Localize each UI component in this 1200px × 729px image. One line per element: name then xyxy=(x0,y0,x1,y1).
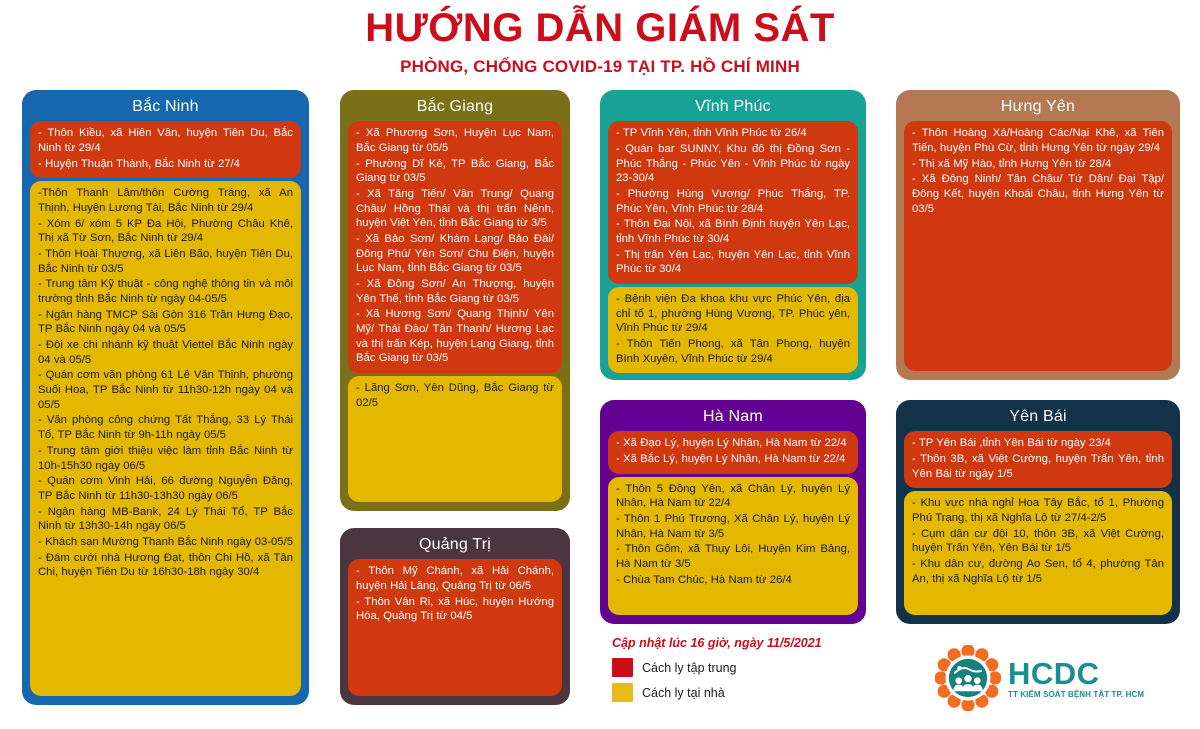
location-item: - Xã Đông Sơn/ An Thượng, huyện Yên Thế,… xyxy=(356,277,554,306)
legend-item-home: Cách ly tại nhà xyxy=(612,683,932,702)
card-hung-yen: Hưng Yên - Thôn Hoàng Xá/Hoàng Các/Nại K… xyxy=(896,90,1180,380)
legend-swatch-yellow-icon xyxy=(612,683,633,702)
location-item: - Xã Bảo Sơn/ Khám Lạng/ Bảo Đài/ Đông P… xyxy=(356,232,554,276)
location-list-yellow-bac-giang: - Lãng Sơn, Yên Dũng, Bắc Giang từ 02/5 xyxy=(356,381,554,410)
card-yen-bai: Yên Bái - TP Yên Bái ,tỉnh Yên Bái từ ng… xyxy=(896,400,1180,624)
location-item: - Thôn 3B, xã Việt Cường, huyện Trấn Yên… xyxy=(912,452,1164,481)
location-list-red-quang-tri: - Thôn Mỹ Chánh, xã Hải Chánh, huyện Hải… xyxy=(356,564,554,624)
location-item: - Thị trấn Yên Lạc, huyện Yên Lạc, tỉnh … xyxy=(616,248,850,277)
header: HƯỚNG DẪN GIÁM SÁT PHÒNG, CHỐNG COVID-19… xyxy=(0,6,1200,77)
legend-swatch-red-icon xyxy=(612,658,633,677)
card-title-quang-tri: Quảng Trị xyxy=(348,534,562,559)
location-item: - Đám cưới nhà Hương Đạt, thôn Chi Hồ, x… xyxy=(38,551,293,580)
card-title-yen-bai: Yên Bái xyxy=(904,406,1172,431)
hcdc-emblem-icon xyxy=(935,645,1001,711)
card-title-vinh-phuc: Vĩnh Phúc xyxy=(608,96,858,121)
location-item: - TP Yên Bái ,tỉnh Yên Bái từ ngày 23/4 xyxy=(912,436,1164,451)
block-central-quarantine-quang-tri: - Thôn Mỹ Chánh, xã Hải Chánh, huyện Hải… xyxy=(348,559,562,696)
location-item: - Thôn Vân Ri, xã Húc, huyện Hướng Hóa, … xyxy=(356,595,554,624)
location-item: - Xã Đông Ninh/ Tân Châu/ Tứ Dân/ Đại Tậ… xyxy=(912,172,1164,216)
location-item: - Đội xe chi nhánh kỹ thuật Viettel Bắc … xyxy=(38,338,293,367)
updated-timestamp: Cập nhật lúc 16 giờ, ngày 11/5/2021 xyxy=(612,636,932,650)
legend-item-central: Cách ly tập trung xyxy=(612,658,932,677)
block-central-quarantine-ha-nam: - Xã Đạo Lý, huyện Lý Nhân, Hà Nam từ 22… xyxy=(608,431,858,473)
card-title-bac-ninh: Bắc Ninh xyxy=(30,96,301,121)
location-item: - Thôn Đại Nội, xã Bình Định huyện Yên L… xyxy=(616,217,850,246)
hcdc-name: HCDC xyxy=(1008,658,1144,689)
location-item: - Quán bar SUNNY, Khu đô thị Đồng Sơn - … xyxy=(616,142,850,186)
location-item: - Văn phòng công chứng Tất Thắng, 33 Lý … xyxy=(38,413,293,442)
location-item: - Thôn 1 Phú Trương, Xã Chân Lý, huyện L… xyxy=(616,512,850,541)
location-item: - TP Vĩnh Yên, tỉnh Vĩnh Phúc từ 26/4 xyxy=(616,126,850,141)
legend-label-home: Cách ly tại nhà xyxy=(642,686,725,700)
location-list-red-ha-nam: - Xã Đạo Lý, huyện Lý Nhân, Hà Nam từ 22… xyxy=(616,436,850,466)
location-item: - Quán cơm Vinh Hải, 66 đường Nguyễn Đăn… xyxy=(38,474,293,503)
block-home-quarantine-bac-giang: - Lãng Sơn, Yên Dũng, Bắc Giang từ 02/5 xyxy=(348,376,562,502)
location-item: - Trung tâm Kỹ thuật - công nghệ thông t… xyxy=(38,277,293,306)
block-home-quarantine-yen-bai: - Khu vực nhà nghỉ Hoa Tây Bắc, tổ 1, Ph… xyxy=(904,491,1172,615)
card-bac-giang: Bắc Giang - Xã Phương Sơn, Huyện Lục Nam… xyxy=(340,90,570,511)
location-item: - Thôn 5 Đồng Yên, xã Chân Lý, huyện Lý … xyxy=(616,482,850,511)
card-title-hung-yen: Hưng Yên xyxy=(904,96,1172,121)
location-list-red-yen-bai: - TP Yên Bái ,tỉnh Yên Bái từ ngày 23/4-… xyxy=(912,436,1164,481)
card-bac-ninh: Bắc Ninh - Thôn Kiều, xã Hiên Vân, huyện… xyxy=(22,90,309,705)
location-item: - Thôn Hoài Thượng, xã Liên Bão, huyện T… xyxy=(38,247,293,276)
card-vinh-phuc: Vĩnh Phúc - TP Vĩnh Yên, tỉnh Vĩnh Phúc … xyxy=(600,90,866,380)
infographic-page: HƯỚNG DẪN GIÁM SÁT PHÒNG, CHỐNG COVID-19… xyxy=(0,0,1200,729)
location-item: - Huyện Thuận Thành, Bắc Ninh từ 27/4 xyxy=(38,157,293,172)
page-title: HƯỚNG DẪN GIÁM SÁT xyxy=(0,6,1200,50)
block-central-quarantine-hung-yen: - Thôn Hoàng Xá/Hoàng Các/Nại Khê, xã Ti… xyxy=(904,121,1172,371)
location-item: - Xã Phương Sơn, Huyện Lục Nam, Bắc Gian… xyxy=(356,126,554,155)
page-subtitle: PHÒNG, CHỐNG COVID-19 TẠI TP. HỒ CHÍ MIN… xyxy=(0,58,1200,77)
location-item: - Cụm dân cư đội 10, thôn 3B, xã Việt Cư… xyxy=(912,527,1164,556)
location-item: - Chùa Tam Chúc, Hà Nam từ 26/4 xyxy=(616,573,850,588)
location-item: - Xã Hương Sơn/ Quang Thịnh/ Yên Mỹ/ Thá… xyxy=(356,307,554,366)
hcdc-tagline: TT KIỂM SOÁT BỆNH TẬT TP. HCM xyxy=(1008,691,1144,699)
location-item: - Bệnh viện Đa khoa khu vực Phúc Yên, đị… xyxy=(616,292,850,336)
block-home-quarantine-bac-ninh: -Thôn Thanh Lâm/thôn Cường Tráng, xã An … xyxy=(30,181,301,696)
location-item: - Lãng Sơn, Yên Dũng, Bắc Giang từ 02/5 xyxy=(356,381,554,410)
block-central-quarantine-vinh-phuc: - TP Vĩnh Yên, tỉnh Vĩnh Phúc từ 26/4- Q… xyxy=(608,121,858,284)
legend-label-central: Cách ly tập trung xyxy=(642,661,737,675)
location-item: - Xã Tăng Tiến/ Vân Trung/ Quang Châu/ H… xyxy=(356,187,554,231)
card-ha-nam: Hà Nam - Xã Đạo Lý, huyện Lý Nhân, Hà Na… xyxy=(600,400,866,624)
location-item: - Ngân hàng MB-Bank, 24 Lý Thái Tổ, TP B… xyxy=(38,505,293,534)
location-list-red-bac-giang: - Xã Phương Sơn, Huyện Lục Nam, Bắc Gian… xyxy=(356,126,554,366)
location-item: -Thôn Thanh Lâm/thôn Cường Tráng, xã An … xyxy=(38,186,293,215)
location-list-red-vinh-phuc: - TP Vĩnh Yên, tỉnh Vĩnh Phúc từ 26/4- Q… xyxy=(616,126,850,277)
card-title-bac-giang: Bắc Giang xyxy=(348,96,562,121)
block-central-quarantine-yen-bai: - TP Yên Bái ,tỉnh Yên Bái từ ngày 23/4-… xyxy=(904,431,1172,488)
location-list-yellow-yen-bai: - Khu vực nhà nghỉ Hoa Tây Bắc, tổ 1, Ph… xyxy=(912,496,1164,586)
location-list-yellow-ha-nam: - Thôn 5 Đồng Yên, xã Chân Lý, huyện Lý … xyxy=(616,482,850,588)
location-item: - Khách sạn Mường Thanh Bắc Ninh ngày 03… xyxy=(38,535,293,550)
location-list-yellow-bac-ninh: -Thôn Thanh Lâm/thôn Cường Tráng, xã An … xyxy=(38,186,293,579)
location-item: - Thôn Gốm, xã Thụy Lôi, Huyện Kim Bảng,… xyxy=(616,542,850,571)
location-item: - Xã Đạo Lý, huyện Lý Nhân, Hà Nam từ 22… xyxy=(616,436,850,451)
location-item: - Ngân hàng TMCP Sài Gòn 316 Trần Hưng Đ… xyxy=(38,308,293,337)
location-item: - Thôn Tiến Phong, xã Tân Phong, huyện B… xyxy=(616,337,850,366)
location-item: - Quán cơm văn phòng 61 Lê Văn Thịnh, ph… xyxy=(38,368,293,412)
location-list-red-bac-ninh: - Thôn Kiều, xã Hiên Vân, huyện Tiên Du,… xyxy=(38,126,293,171)
location-list-yellow-vinh-phuc: - Bệnh viện Đa khoa khu vực Phúc Yên, đị… xyxy=(616,292,850,366)
block-home-quarantine-ha-nam: - Thôn 5 Đồng Yên, xã Chân Lý, huyện Lý … xyxy=(608,477,858,615)
hcdc-logo-text: HCDC TT KIỂM SOÁT BỆNH TẬT TP. HCM xyxy=(1008,658,1144,699)
location-item: - Trung tâm giới thiệu việc làm tỉnh Bắc… xyxy=(38,444,293,473)
block-home-quarantine-vinh-phuc: - Bệnh viện Đa khoa khu vực Phúc Yên, đị… xyxy=(608,287,858,373)
footer: Cập nhật lúc 16 giờ, ngày 11/5/2021 Cách… xyxy=(612,636,932,708)
location-item: - Xã Bắc Lý, huyện Lý Nhân, Hà Nam từ 22… xyxy=(616,452,850,467)
location-item: - Phường Dĩ Kẻ, TP Bắc Giang, Bắc Giang … xyxy=(356,157,554,186)
block-central-quarantine-bac-ninh: - Thôn Kiều, xã Hiên Vân, huyện Tiên Du,… xyxy=(30,121,301,178)
location-list-red-hung-yen: - Thôn Hoàng Xá/Hoàng Các/Nại Khê, xã Ti… xyxy=(912,126,1164,216)
hcdc-logo: HCDC TT KIỂM SOÁT BỆNH TẬT TP. HCM xyxy=(935,645,1144,711)
location-item: - Khu dân cư, đường Ao Sen, tổ 4, phường… xyxy=(912,557,1164,586)
block-central-quarantine-bac-giang: - Xã Phương Sơn, Huyện Lục Nam, Bắc Gian… xyxy=(348,121,562,373)
location-item: - Phường Hùng Vương/ Phúc Thắng, TP. Phú… xyxy=(616,187,850,216)
location-item: - Khu vực nhà nghỉ Hoa Tây Bắc, tổ 1, Ph… xyxy=(912,496,1164,525)
location-item: - Xóm 6/ xóm 5 KP Đa Hội, Phường Châu Kh… xyxy=(38,217,293,246)
location-item: - Thôn Kiều, xã Hiên Vân, huyện Tiên Du,… xyxy=(38,126,293,155)
location-item: - Thôn Mỹ Chánh, xã Hải Chánh, huyện Hải… xyxy=(356,564,554,593)
card-title-ha-nam: Hà Nam xyxy=(608,406,858,431)
location-item: - Thôn Hoàng Xá/Hoàng Các/Nại Khê, xã Ti… xyxy=(912,126,1164,155)
location-item: - Thị xã Mỹ Hào, tỉnh Hưng Yên từ 28/4 xyxy=(912,157,1164,172)
card-quang-tri: Quảng Trị - Thôn Mỹ Chánh, xã Hải Chánh,… xyxy=(340,528,570,705)
